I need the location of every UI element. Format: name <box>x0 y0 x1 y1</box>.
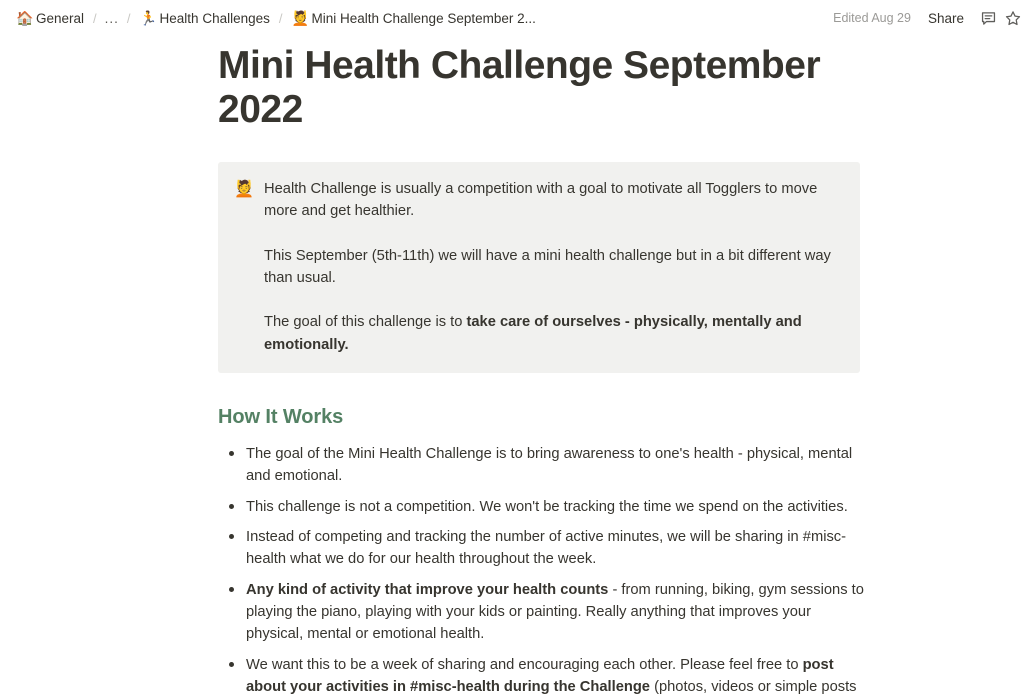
bold-text-run: Any kind of activity that improve your h… <box>246 582 608 598</box>
breadcrumb-separator: / <box>122 11 136 26</box>
breadcrumb-item-health-challenges[interactable]: 🏃 Health Challenges <box>136 9 274 28</box>
list-item-text[interactable]: The goal of the Mini Health Challenge is… <box>244 442 869 489</box>
breadcrumb-label-general: General <box>36 11 84 26</box>
breadcrumb-separator: / <box>274 11 288 26</box>
bullet-dot-icon <box>218 653 244 667</box>
list-item-text[interactable]: We want this to be a week of sharing and… <box>244 653 869 700</box>
text-run: We want this to be a week of sharing and… <box>246 657 803 673</box>
callout-empty-line <box>264 289 844 311</box>
person-massage-emoji: 💆 <box>292 11 307 25</box>
house-emoji: 🏠 <box>16 11 31 25</box>
page-section-heading[interactable]: How It Works <box>218 406 968 429</box>
list-item-text[interactable]: Any kind of activity that improve your h… <box>244 578 869 647</box>
bullet-dot-icon <box>218 495 244 509</box>
list-item-text[interactable]: This challenge is not a competition. We … <box>244 495 869 519</box>
comment-icon[interactable] <box>974 5 1002 31</box>
text-run: Health Challenge is usually a competitio… <box>264 181 817 219</box>
text-run: This September (5th-11th) we will have a… <box>264 248 831 286</box>
breadcrumb-item-general[interactable]: 🏠 General <box>12 9 88 28</box>
list-item-text[interactable]: Instead of competing and tracking the nu… <box>244 525 869 572</box>
bullet-dot-icon <box>218 442 244 456</box>
text-run: The goal of this challenge is to <box>264 314 466 330</box>
callout-paragraph[interactable]: Health Challenge is usually a competitio… <box>264 178 844 223</box>
star-icon[interactable] <box>1004 5 1022 31</box>
bullet-dot-icon <box>218 578 244 592</box>
list-item[interactable]: Any kind of activity that improve your h… <box>218 578 869 647</box>
breadcrumb-separator: / <box>88 11 102 26</box>
list-item[interactable]: This challenge is not a competition. We … <box>218 495 869 519</box>
callout-paragraph[interactable]: The goal of this challenge is to take ca… <box>264 311 844 356</box>
share-button[interactable]: Share <box>920 7 972 30</box>
top-bar-actions: Edited Aug 29 Share <box>826 5 1016 31</box>
person-massage-emoji[interactable]: 💆 <box>234 178 254 201</box>
callout-paragraph[interactable]: This September (5th-11th) we will have a… <box>264 245 844 290</box>
breadcrumb: 🏠 General / ... / 🏃 Health Challenges / … <box>12 9 826 28</box>
list-item[interactable]: Instead of competing and tracking the nu… <box>218 525 869 572</box>
list-item[interactable]: The goal of the Mini Health Challenge is… <box>218 442 869 489</box>
text-run: This challenge is not a competition. We … <box>246 499 848 515</box>
bulleted-list: The goal of the Mini Health Challenge is… <box>218 442 968 700</box>
bullet-dot-icon <box>218 525 244 539</box>
callout-empty-line <box>264 223 844 245</box>
breadcrumb-label-health-challenges: Health Challenges <box>160 11 270 26</box>
callout-block[interactable]: 💆 Health Challenge is usually a competit… <box>218 162 860 373</box>
page-content: Mini Health Challenge September 2022 💆 H… <box>0 44 1024 700</box>
text-run: The goal of the Mini Health Challenge is… <box>246 446 852 484</box>
last-edited-label[interactable]: Edited Aug 29 <box>826 7 918 29</box>
breadcrumb-label-current-page: Mini Health Challenge September 2... <box>312 11 536 26</box>
top-bar: 🏠 General / ... / 🏃 Health Challenges / … <box>0 0 1024 36</box>
callout-text[interactable]: Health Challenge is usually a competitio… <box>264 178 844 356</box>
breadcrumb-collapsed-ellipsis[interactable]: ... <box>102 9 122 28</box>
list-item[interactable]: We want this to be a week of sharing and… <box>218 653 869 700</box>
breadcrumb-item-current-page[interactable]: 💆 Mini Health Challenge September 2... <box>288 9 540 28</box>
page-title[interactable]: Mini Health Challenge September 2022 <box>218 44 863 133</box>
text-run: Instead of competing and tracking the nu… <box>246 529 846 567</box>
running-person-emoji: 🏃 <box>140 11 155 25</box>
